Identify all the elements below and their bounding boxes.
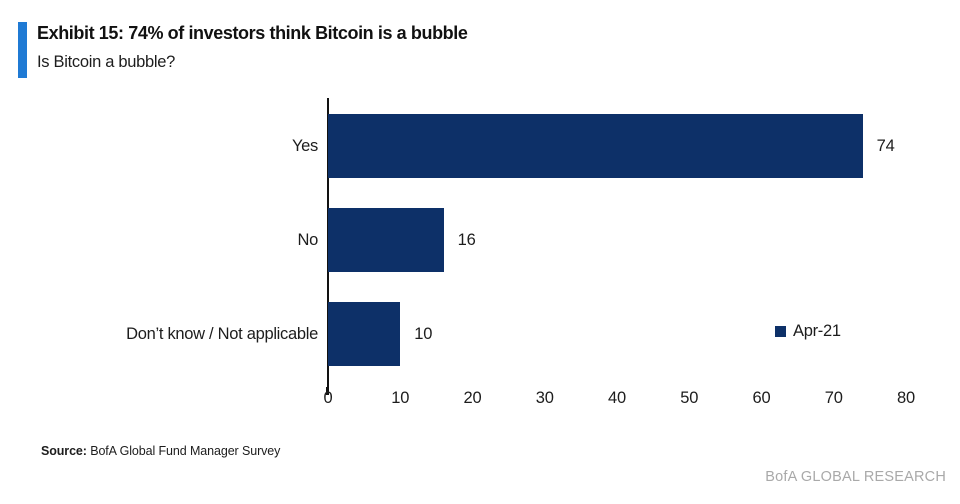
x-tick-label-60: 60 <box>753 389 771 408</box>
data-label-yes: 74 <box>877 114 895 178</box>
brand-watermark: BofA GLOBAL RESEARCH <box>765 469 946 485</box>
category-label-dont-know: Don’t know / Not applicable <box>10 302 318 366</box>
category-label-text: Yes <box>292 137 318 156</box>
category-label-text: Don’t know / Not applicable <box>126 325 318 344</box>
chart-plot-area: Yes No Don’t know / Not applicable 74 16… <box>0 0 960 504</box>
x-tick-label-10: 10 <box>391 389 409 408</box>
x-tick-label-40: 40 <box>608 389 626 408</box>
x-tick-label-0: 0 <box>324 389 333 408</box>
source-label: Source: <box>41 444 87 458</box>
x-tick-label-20: 20 <box>464 389 482 408</box>
x-tick-label-70: 70 <box>825 389 843 408</box>
data-label-dont-know: 10 <box>414 302 432 366</box>
source-value: BofA Global Fund Manager Survey <box>90 444 280 458</box>
legend-swatch-icon <box>775 326 786 337</box>
bar-yes <box>328 114 863 178</box>
x-tick-label-30: 30 <box>536 389 554 408</box>
category-label-no: No <box>10 208 318 272</box>
legend-label: Apr-21 <box>793 322 841 341</box>
data-label-no: 16 <box>458 208 476 272</box>
source-note: Source: BofA Global Fund Manager Survey <box>41 444 280 458</box>
bar-no <box>328 208 444 272</box>
category-label-text: No <box>298 231 319 250</box>
chart-legend: Apr-21 <box>775 322 841 341</box>
category-label-yes: Yes <box>10 114 318 178</box>
x-tick-label-80: 80 <box>897 389 915 408</box>
bar-dont-know <box>328 302 400 366</box>
x-tick-label-50: 50 <box>680 389 698 408</box>
